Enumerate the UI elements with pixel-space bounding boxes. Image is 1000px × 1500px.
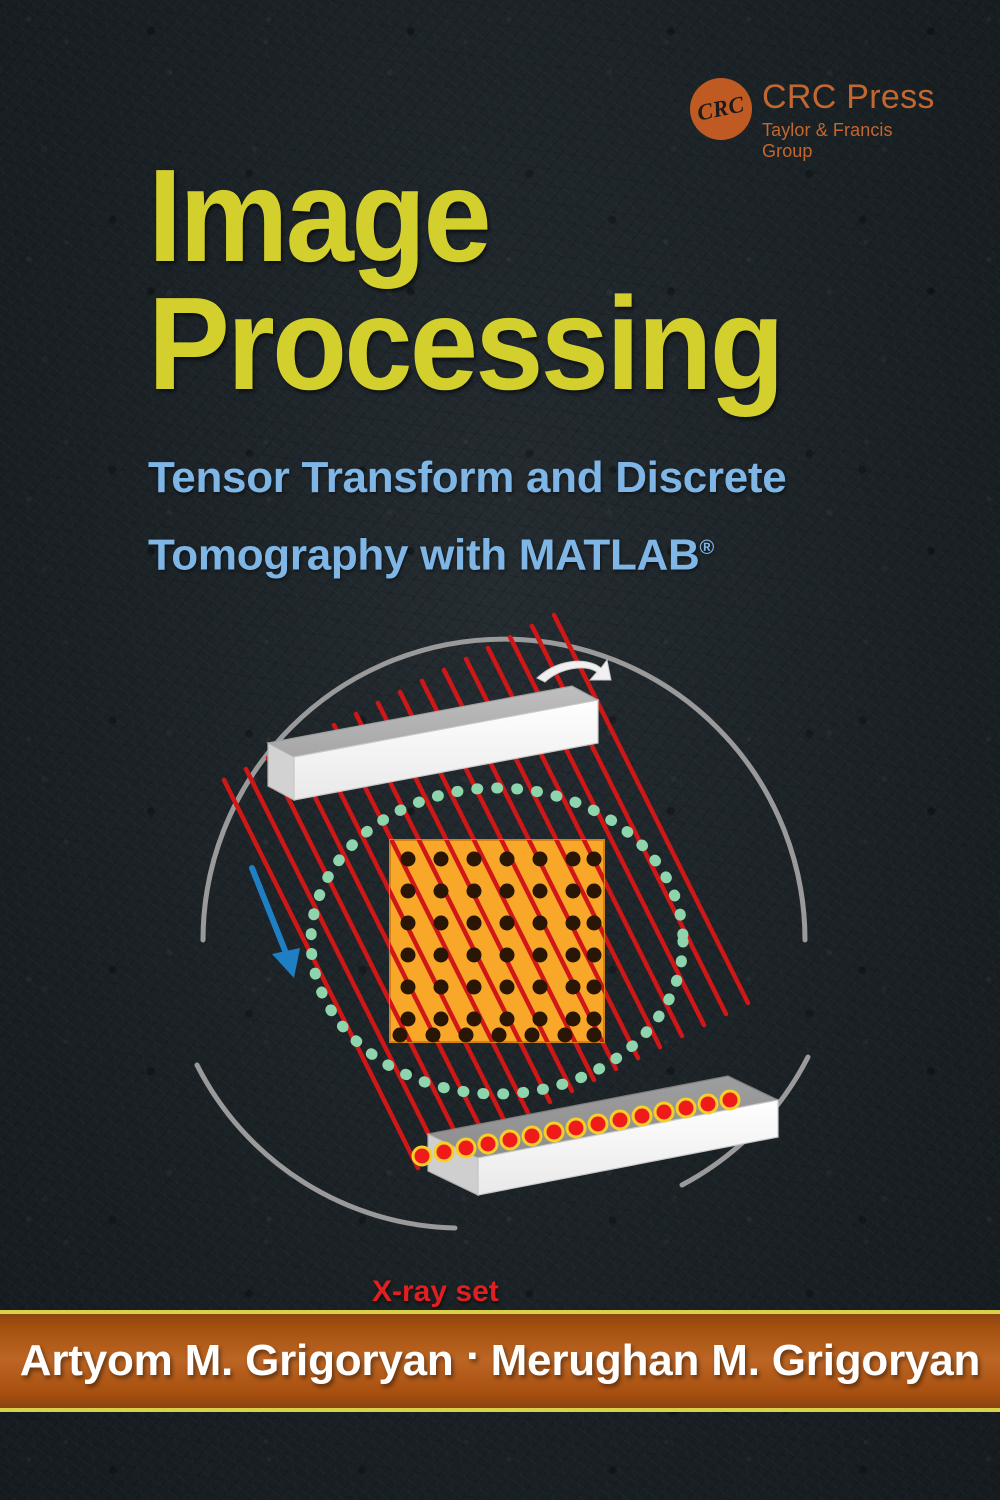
xray-set-label: X-ray set bbox=[372, 1275, 499, 1309]
subtitle-line-1: Tensor Transform and Discrete bbox=[148, 443, 938, 513]
subtitle-line-2: Tomography with MATLAB® bbox=[148, 513, 938, 591]
registered-trademark-icon: ® bbox=[699, 537, 713, 559]
title-line-2: Processing bbox=[148, 280, 892, 408]
subtitle-line-2-text: Tomography with MATLAB bbox=[148, 531, 699, 580]
book-cover: CRC CRC Press Taylor & Francis Group Ima… bbox=[0, 0, 1000, 1500]
publisher-name: CRC Press bbox=[762, 78, 935, 117]
crc-logo-text: CRC bbox=[695, 91, 747, 126]
author-names: Artyom M. Grigoryan ▪ Merughan M. Grigor… bbox=[0, 1310, 1000, 1412]
author-second: Merughan M. Grigoryan bbox=[491, 1336, 981, 1386]
book-subtitle: Tensor Transform and Discrete Tomography… bbox=[148, 443, 938, 591]
rotation-arrow-icon bbox=[537, 660, 611, 682]
title-line-1: Image bbox=[148, 152, 892, 280]
book-title: Image Processing bbox=[148, 152, 948, 408]
tomography-diagram: X-ray set image f(n,m) detectors project… bbox=[0, 610, 1000, 1250]
gantry-arc-bottom-left bbox=[197, 1065, 455, 1228]
crc-press-logo: CRC CRC Press Taylor & Francis Group bbox=[690, 78, 940, 150]
diagram-canvas bbox=[0, 610, 1000, 1250]
author-first: Artyom M. Grigoryan bbox=[20, 1336, 454, 1386]
author-separator-icon: ▪ bbox=[454, 1340, 491, 1371]
author-band: Artyom M. Grigoryan ▪ Merughan M. Grigor… bbox=[0, 1310, 1000, 1412]
crc-logo-disc: CRC bbox=[690, 78, 752, 140]
